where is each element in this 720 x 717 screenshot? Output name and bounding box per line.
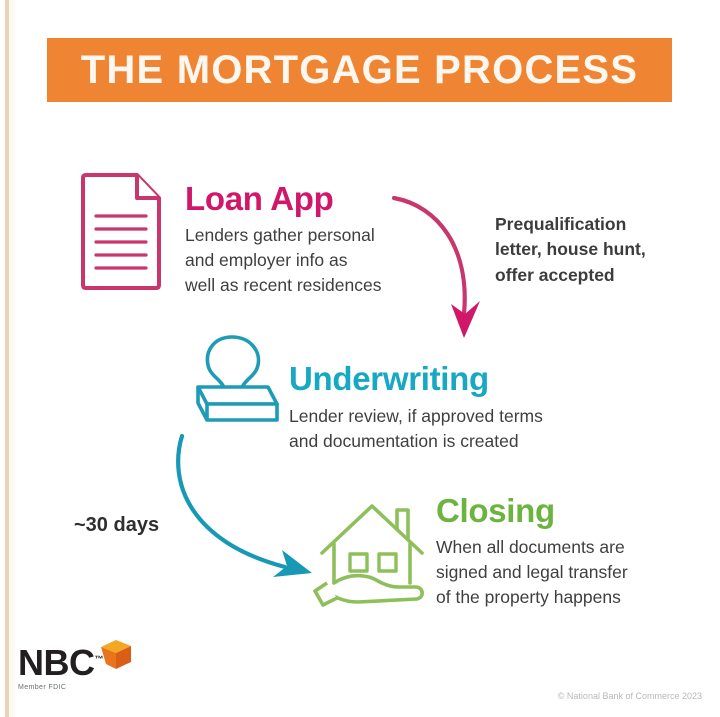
nbc-logo: NBC™ Member FDIC: [18, 645, 103, 691]
note-prequalification: Prequalification letter, house hunt, off…: [495, 212, 646, 288]
note-prequalification-line: letter, house hunt,: [495, 237, 646, 262]
step-closing-body-line: When all documents are: [436, 535, 628, 560]
house-in-hand-icon: [313, 497, 431, 607]
nbc-cube-icon: [98, 638, 134, 672]
step-underwriting-heading: Underwriting: [289, 362, 543, 395]
step-underwriting-body-line: Lender review, if approved terms: [289, 404, 543, 429]
note-prequalification-line: offer accepted: [495, 263, 646, 288]
document-icon: [79, 172, 165, 292]
copyright-text: © National Bank of Commerce 2023: [558, 691, 702, 701]
step-closing: Closing When all documents are signed an…: [436, 494, 628, 610]
nbc-logo-word-text: NBC: [18, 642, 95, 683]
nbc-logo-wordmark: NBC™: [18, 645, 103, 681]
title-banner: THE MORTGAGE PROCESS: [47, 38, 672, 102]
step-closing-body: When all documents are signed and legal …: [436, 535, 628, 610]
note-prequalification-line: Prequalification: [495, 212, 646, 237]
step-closing-heading: Closing: [436, 494, 628, 527]
page-title: THE MORTGAGE PROCESS: [81, 48, 638, 93]
arrow-loan-to-underwriting-icon: [388, 190, 498, 355]
step-closing-body-line: of the property happens: [436, 585, 628, 610]
step-loan-app-body-line: and employer info as: [185, 248, 381, 273]
step-loan-app-heading: Loan App: [185, 182, 381, 215]
edge-stripe-inner: [9, 0, 15, 717]
nbc-logo-tagline: Member FDIC: [18, 684, 103, 691]
step-closing-body-line: signed and legal transfer: [436, 560, 628, 585]
step-loan-app-body-line: Lenders gather personal: [185, 223, 381, 248]
step-loan-app-body-line: well as recent residences: [185, 273, 381, 298]
duration-label: ~30 days: [74, 514, 159, 537]
step-loan-app-body: Lenders gather personal and employer inf…: [185, 223, 381, 298]
step-loan-app: Loan App Lenders gather personal and emp…: [185, 182, 381, 298]
stamp-icon: [180, 332, 285, 432]
infographic-canvas: THE MORTGAGE PROCESS Loan App Lenders ga…: [0, 0, 720, 717]
